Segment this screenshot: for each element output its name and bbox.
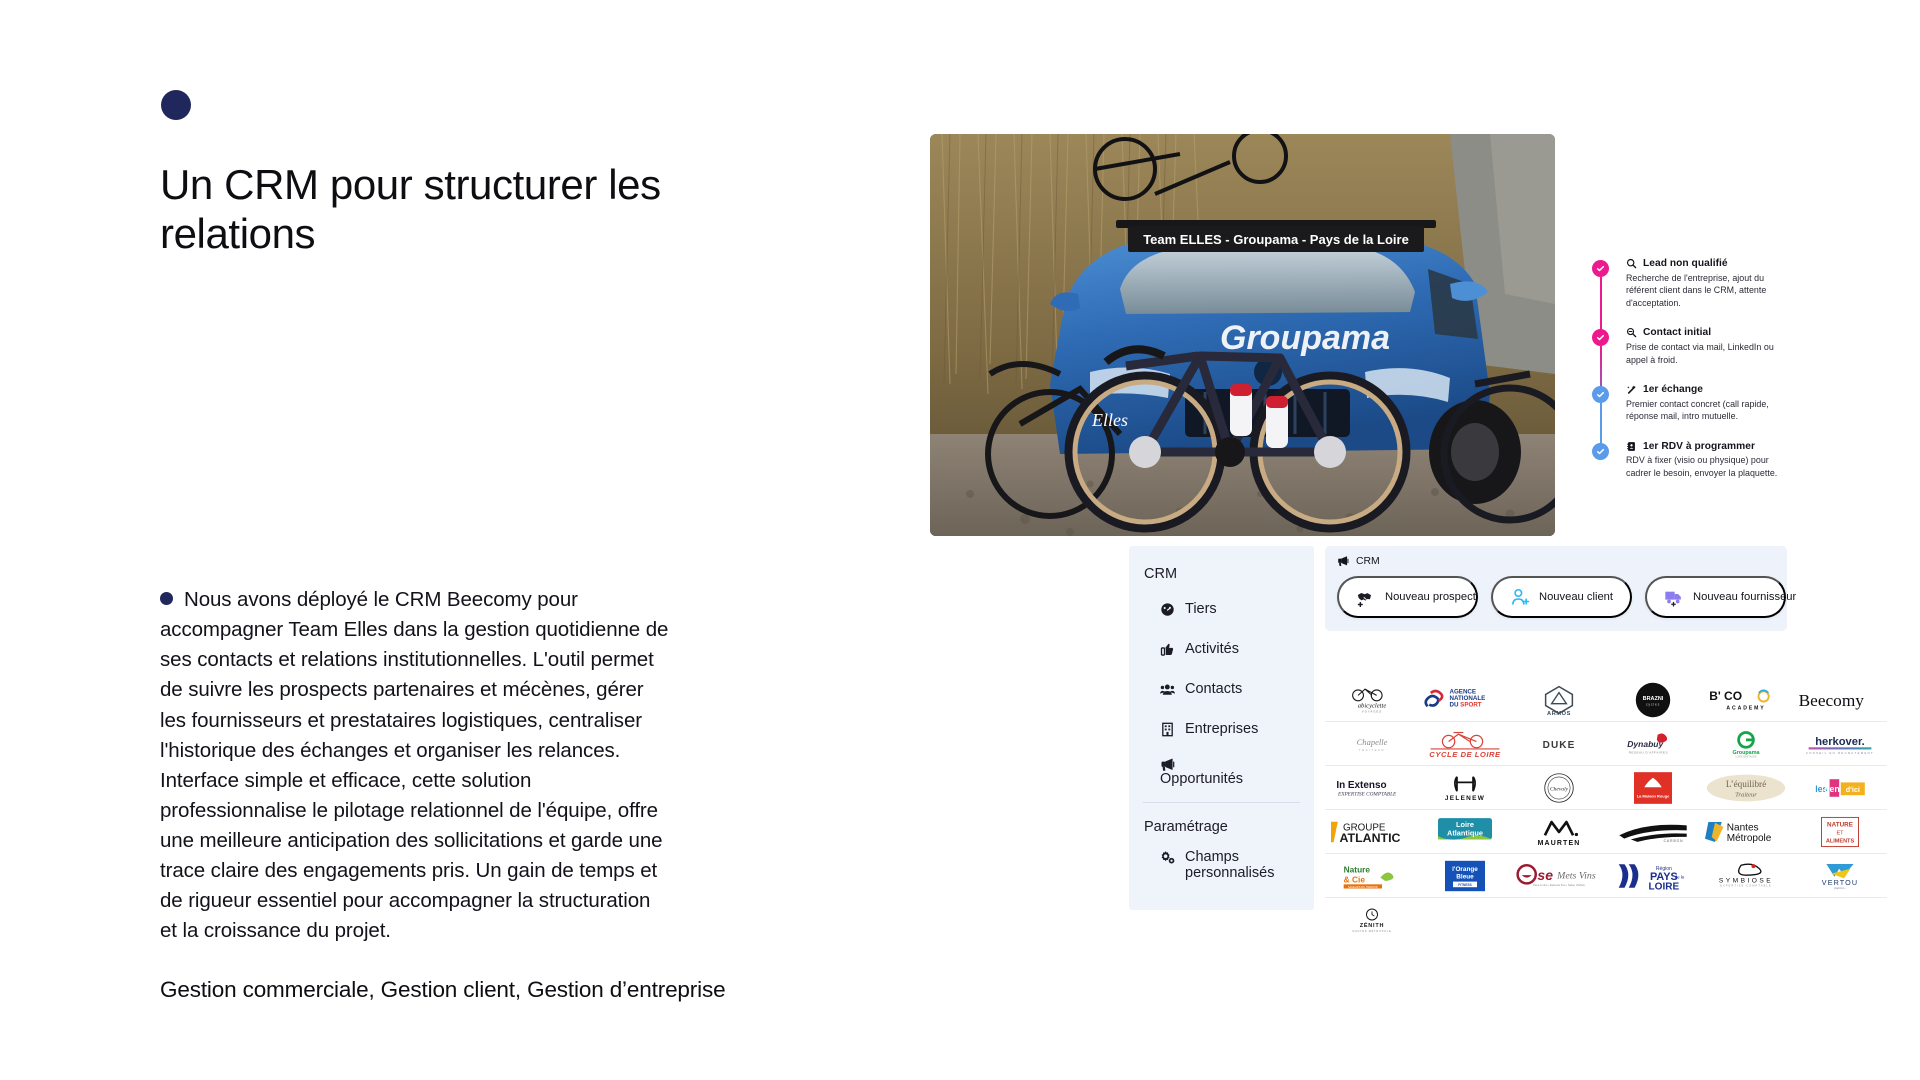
- logo-b-coo-academy: B' COACADEMY: [1700, 678, 1794, 721]
- pipeline-node-check-icon: [1592, 329, 1609, 346]
- logo-row: In ExtensoEXPERTISE COMPTABLE JELENEW Ch…: [1325, 766, 1887, 810]
- logo-lequilibre-traiteur: L’équilibréTraiteur: [1700, 766, 1794, 809]
- svg-text:EXPERTISE COMPTABLE: EXPERTISE COMPTABLE: [1337, 791, 1397, 797]
- logo-nature-et-aliments: NATUREETALIMENTS: [1793, 810, 1887, 853]
- pipeline-step-desc: RDV à fixer (visio ou physique) pour cad…: [1626, 454, 1792, 479]
- pipeline-node-check-icon: [1592, 260, 1609, 277]
- sidebar-group-title-crm: CRM: [1129, 566, 1314, 582]
- svg-text:ZÉNITH: ZÉNITH: [1360, 921, 1385, 929]
- sidebar-item-label: Tiers: [1185, 601, 1217, 618]
- logo-les-gens-dici: lesgensd'ici: [1793, 766, 1887, 809]
- sidebar-item-label: Activités: [1185, 641, 1239, 658]
- logo-row: ChapelleTRAITEUR CYCLE DE LOIRE DUKE Dyn…: [1325, 722, 1887, 766]
- svg-text:cycles: cycles: [1646, 702, 1660, 706]
- svg-text:l'Orange: l'Orange: [1453, 866, 1479, 873]
- svg-text:SAVEURS DU TERROIR: SAVEURS DU TERROIR: [1348, 884, 1378, 888]
- actions-panel-header: CRM: [1337, 555, 1775, 567]
- slide-root: Un CRM pour structurer les relations Nou…: [0, 0, 1920, 1080]
- svg-text:d'ici: d'ici: [1846, 785, 1860, 794]
- pipeline-step[interactable]: 1er RDV à programmer RDV à fixer (visio …: [1592, 441, 1792, 480]
- logo-jelenew: JELENEW: [1419, 766, 1513, 809]
- svg-text:Cave à vins • Épicerie fine •: Cave à vins • Épicerie fine • Salon d'hô…: [1533, 881, 1586, 886]
- logo-region-pays-de-la-loire: RégionPAYSde laLOIRE: [1606, 854, 1700, 897]
- logo-groupama: GroupamaLOIRE BRETAGNE: [1700, 722, 1794, 765]
- crm-sidebar: CRM Tiers Activités Contacts Entreprises…: [1129, 546, 1314, 910]
- pipeline-step[interactable]: Lead non qualifié Recherche de l'entrepr…: [1592, 258, 1792, 309]
- svg-text:JELENEW: JELENEW: [1445, 795, 1485, 802]
- logo-chapelle: ChapelleTRAITEUR: [1325, 722, 1419, 765]
- svg-text:MAURTEN: MAURTEN: [1538, 840, 1581, 847]
- svg-text:Dynabuy: Dynabuy: [1627, 739, 1664, 749]
- sidebar-group-title-parametrage: Paramétrage: [1129, 819, 1314, 835]
- hero-photo: Team ELLES - Groupama - Pays de la Loire…: [930, 134, 1555, 536]
- accent-dot-icon: [161, 90, 191, 120]
- svg-text:L’équilibré: L’équilibré: [1726, 779, 1766, 789]
- svg-text:SYMBIOSE: SYMBIOSE: [1719, 877, 1773, 884]
- svg-text:Atlantique: Atlantique: [1447, 828, 1483, 837]
- svg-text:DUKE: DUKE: [1543, 739, 1576, 750]
- logo-nve: CARBON: [1606, 810, 1700, 853]
- logo-empty: [1793, 898, 1887, 942]
- sidebar-item-entreprises[interactable]: Entreprises: [1129, 716, 1314, 742]
- logo-vertou: VERTOUinspirez...: [1793, 854, 1887, 897]
- logo-la-maison-rouge: La Maison Rouge: [1606, 766, 1700, 809]
- logo-empty: [1512, 898, 1606, 942]
- logo-duke: DUKE: [1512, 722, 1606, 765]
- svg-text:BRAZNI: BRAZNI: [1642, 696, 1663, 702]
- page-title: Un CRM pour structurer les relations: [160, 160, 800, 258]
- sidebar-item-label: Champs personnalisés: [1185, 849, 1302, 882]
- svg-text:ATLANTIC: ATLANTIC: [1339, 831, 1400, 845]
- new-prospect-button[interactable]: Nouveau prospect: [1337, 576, 1478, 618]
- pipeline-step-head: 1er RDV à programmer: [1626, 441, 1792, 452]
- actions-panel-header-label: CRM: [1356, 556, 1380, 567]
- svg-text:LOIRE BRETAGNE: LOIRE BRETAGNE: [1736, 755, 1758, 758]
- logo-row: abicycletteVOYAGES AGENCENATIONALEDU SPO…: [1325, 678, 1887, 722]
- left-column: Un CRM pour structurer les relations Nou…: [160, 0, 840, 1080]
- svg-text:Nantes: Nantes: [1727, 822, 1759, 833]
- pipeline-step[interactable]: Contact initial Prise de contact via mai…: [1592, 327, 1792, 366]
- svg-text:RESEAU D'AFFAIRES: RESEAU D'AFFAIRES: [1629, 750, 1668, 754]
- body-paragraph: Nous avons déployé le CRM Beecomy pour a…: [160, 585, 670, 947]
- svg-text:NATURE: NATURE: [1827, 821, 1853, 828]
- svg-text:Elles: Elles: [1091, 410, 1128, 430]
- svg-text:se: se: [1538, 867, 1554, 883]
- svg-text:CARBON: CARBON: [1663, 838, 1683, 842]
- megaphone-icon: [1337, 555, 1349, 567]
- building-icon: [1160, 722, 1175, 737]
- logo-empty: [1606, 898, 1700, 942]
- actions-panel-buttons: Nouveau prospect Nouveau client: [1337, 576, 1775, 618]
- svg-text:B' CO: B' CO: [1710, 689, 1743, 703]
- svg-text:FITNESS: FITNESS: [1459, 882, 1472, 886]
- svg-text:NANTES MÉTROPOLE: NANTES MÉTROPOLE: [1352, 930, 1391, 933]
- logo-ose-mets-vins: seMets VinsCave à vins • Épicerie fine •…: [1512, 854, 1606, 897]
- sidebar-item-tiers[interactable]: Tiers: [1129, 596, 1314, 622]
- new-client-button[interactable]: Nouveau client: [1491, 576, 1632, 618]
- address-book-icon: [1626, 441, 1637, 452]
- svg-text:Chapelle: Chapelle: [1356, 736, 1387, 746]
- new-prospect-label: Nouveau prospect: [1385, 590, 1459, 604]
- megaphone-icon: [1160, 757, 1175, 772]
- logo-agence-nationale-du-sport: AGENCENATIONALEDU SPORT: [1419, 678, 1513, 721]
- bullet-dot-icon: [160, 592, 173, 605]
- logo-lorange-bleue: l'OrangeBleueFITNESS: [1419, 854, 1513, 897]
- logo-groupe-atlantic: GROUPEATLANTIC: [1325, 810, 1419, 853]
- logo-brazni-cycles: BRAZNIcycles: [1606, 678, 1700, 721]
- logo-abicyclette: abicycletteVOYAGES: [1325, 678, 1419, 721]
- svg-text:Groupama: Groupama: [1220, 319, 1390, 357]
- search-icon: [1626, 258, 1637, 269]
- user-plus-icon: [1510, 587, 1530, 607]
- handshake-plus-icon: [1356, 587, 1376, 607]
- new-supplier-button[interactable]: Nouveau fournisseur: [1645, 576, 1786, 618]
- sidebar-item-label: Contacts: [1185, 681, 1242, 698]
- svg-text:VOYAGES: VOYAGES: [1362, 709, 1382, 713]
- pipeline-step-title: Contact initial: [1643, 327, 1711, 338]
- hero-photo-illustration: Team ELLES - Groupama - Pays de la Loire…: [930, 134, 1555, 536]
- logo-row: GROUPEATLANTIC LoireAtlantique MAURTEN C…: [1325, 810, 1887, 854]
- svg-text:Mets Vins: Mets Vins: [1557, 870, 1597, 881]
- sidebar-divider: [1143, 802, 1300, 803]
- svg-text:LOIRE: LOIRE: [1648, 881, 1679, 891]
- thumbs-up-icon: [1160, 642, 1175, 657]
- svg-text:In Extenso: In Extenso: [1336, 780, 1386, 791]
- logo-herkover: herkover.CONSEIL EN RECRUTEMENT: [1793, 722, 1887, 765]
- logo-nantes-metropole: NantesMétropole: [1700, 810, 1794, 853]
- crm-actions-panel: CRM Nouveau prospect Nouveau client: [1325, 546, 1787, 631]
- new-supplier-label: Nouveau fournisseur: [1693, 590, 1767, 604]
- tagline: Gestion commerciale, Gestion client, Ges…: [160, 975, 820, 1004]
- logo-row: Nature& CieSAVEURS DU TERROIR l'OrangeBl…: [1325, 854, 1887, 898]
- svg-text:& Cie: & Cie: [1343, 874, 1365, 884]
- logo-nature-et-cie: Nature& CieSAVEURS DU TERROIR: [1325, 854, 1419, 897]
- logo-maurten: MAURTEN: [1512, 810, 1606, 853]
- svg-text:ARMOS: ARMOS: [1547, 710, 1571, 716]
- pipeline-step-desc: Recherche de l'entreprise, ajout du réfé…: [1626, 272, 1792, 310]
- pipeline-node-check-icon: [1592, 443, 1609, 460]
- pipeline-step-title: Lead non qualifié: [1643, 258, 1728, 269]
- pipeline-step[interactable]: 1er échange Premier contact concret (cal…: [1592, 384, 1792, 423]
- search-minus-icon: [1626, 327, 1637, 338]
- svg-text:CYCLE DE LOIRE: CYCLE DE LOIRE: [1430, 750, 1502, 759]
- svg-text:ALIMENTS: ALIMENTS: [1826, 838, 1855, 844]
- logo-symbiose: SYMBIOSEEXPERTISE COMPTABLE: [1700, 854, 1794, 897]
- logo-in-extenso: In ExtensoEXPERTISE COMPTABLE: [1325, 766, 1419, 809]
- logo-row: ZÉNITHNANTES MÉTROPOLE: [1325, 898, 1887, 942]
- svg-text:Beecomy: Beecomy: [1799, 690, 1865, 709]
- pipeline-step-head: Contact initial: [1626, 327, 1792, 338]
- sidebar-item-activites[interactable]: Activités: [1129, 636, 1314, 662]
- gears-icon: [1160, 850, 1175, 865]
- svg-text:inspirez...: inspirez...: [1834, 885, 1847, 889]
- body-block: Nous avons déployé le CRM Beecomy pour a…: [160, 585, 670, 947]
- pipeline-timeline: Lead non qualifié Recherche de l'entrepr…: [1592, 258, 1792, 480]
- svg-text:de la: de la: [1675, 874, 1685, 879]
- svg-text:herkover.: herkover.: [1815, 735, 1865, 747]
- pipeline-step-desc: Prise de contact via mail, LinkedIn ou a…: [1626, 341, 1792, 366]
- svg-text:TRAITEUR: TRAITEUR: [1359, 747, 1385, 751]
- sidebar-item-opportunites[interactable]: Opportunités: [1129, 756, 1314, 788]
- sidebar-item-label: Entreprises: [1185, 721, 1258, 738]
- new-client-label: Nouveau client: [1539, 590, 1613, 604]
- pipeline-node-check-icon: [1592, 386, 1609, 403]
- svg-text:ACADEMY: ACADEMY: [1727, 705, 1766, 711]
- pipeline-step-head: Lead non qualifié: [1626, 258, 1792, 269]
- truck-plus-icon: [1664, 587, 1684, 607]
- pipeline-step-title: 1er RDV à programmer: [1643, 441, 1755, 452]
- svg-text:abicyclette: abicyclette: [1358, 702, 1387, 709]
- pipeline-step-head: 1er échange: [1626, 384, 1792, 395]
- logo-armos: ARMOS: [1512, 678, 1606, 721]
- svg-text:Traiteur: Traiteur: [1736, 791, 1758, 798]
- sidebar-item-label: Opportunités: [1160, 771, 1243, 788]
- svg-text:Nature: Nature: [1343, 864, 1370, 874]
- svg-text:ET: ET: [1837, 830, 1845, 836]
- svg-text:CONSEIL EN RECRUTEMENT: CONSEIL EN RECRUTEMENT: [1806, 750, 1874, 754]
- gauge-icon: [1160, 602, 1175, 617]
- logo-chevaly: Chevaly: [1512, 766, 1606, 809]
- pipeline-step-desc: Premier contact concret (call rapide, ré…: [1626, 398, 1792, 423]
- logo-empty: [1419, 898, 1513, 942]
- svg-text:EXPERTISE COMPTABLE: EXPERTISE COMPTABLE: [1721, 884, 1773, 887]
- logo-zenith: ZÉNITHNANTES MÉTROPOLE: [1325, 898, 1419, 942]
- svg-text:DU SPORT: DU SPORT: [1449, 701, 1481, 708]
- svg-text:Métropole: Métropole: [1727, 833, 1772, 844]
- svg-text:La Maison Rouge: La Maison Rouge: [1637, 793, 1670, 798]
- sidebar-item-contacts[interactable]: Contacts: [1129, 676, 1314, 702]
- users-icon: [1160, 682, 1175, 697]
- pipeline-step-title: 1er échange: [1643, 384, 1703, 395]
- body-paragraph-text: Nous avons déployé le CRM Beecomy pour a…: [160, 588, 668, 942]
- svg-text:Chevaly: Chevaly: [1550, 786, 1569, 792]
- logo-empty: [1700, 898, 1794, 942]
- sidebar-item-champs-personnalises[interactable]: Champs personnalisés: [1129, 849, 1314, 882]
- logo-loire-atlantique: LoireAtlantique: [1419, 810, 1513, 853]
- logo-beecomy: Beecomy: [1793, 678, 1887, 721]
- logo-dynabuy: DynabuyRESEAU D'AFFAIRES: [1606, 722, 1700, 765]
- magic-wand-icon: [1626, 384, 1637, 395]
- svg-text:Team ELLES - Groupama - Pays d: Team ELLES - Groupama - Pays de la Loire: [1143, 232, 1409, 247]
- svg-text:Bleue: Bleue: [1457, 873, 1475, 880]
- logo-cycle-de-loire: CYCLE DE LOIRE: [1419, 722, 1513, 765]
- partner-logo-grid: abicycletteVOYAGES AGENCENATIONALEDU SPO…: [1325, 678, 1887, 942]
